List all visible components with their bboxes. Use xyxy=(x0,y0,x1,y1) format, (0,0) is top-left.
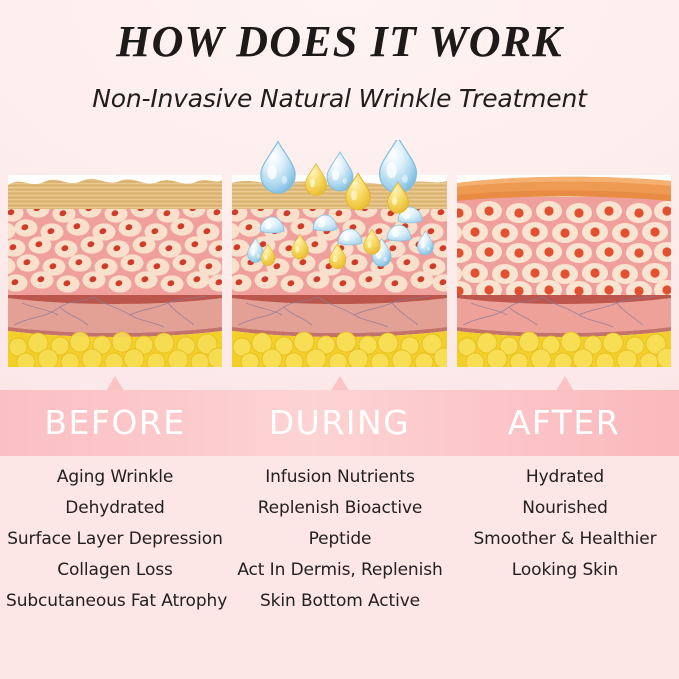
pointer-notch-before xyxy=(106,376,124,391)
benefit-columns: Aging Wrinkle Dehydrated Surface Layer D… xyxy=(0,462,679,679)
page-title: HOW DOES IT WORK xyxy=(0,16,679,67)
list-item: Smoother & Healthier xyxy=(456,524,674,555)
panel-row xyxy=(0,175,679,367)
benefit-column-before: Aging Wrinkle Dehydrated Surface Layer D… xyxy=(6,462,224,617)
skin-cross-section-after xyxy=(457,175,671,367)
skin-cross-section-before xyxy=(8,175,222,367)
skin-cross-section-during xyxy=(232,175,447,367)
list-item: Replenish Bioactive xyxy=(228,493,452,524)
stage-label-after: AFTER xyxy=(457,390,671,456)
benefit-column-after: Hydrated Nourished Smoother & Healthier … xyxy=(456,462,674,586)
list-item: Aging Wrinkle xyxy=(6,462,224,493)
during-illustration xyxy=(232,175,447,367)
stage-band: BEFORE DURING AFTER xyxy=(0,390,679,456)
list-item: Skin Bottom Active xyxy=(228,586,452,617)
list-item: Nourished xyxy=(456,493,674,524)
infographic-poster: HOW DOES IT WORK Non-Invasive Natural Wr… xyxy=(0,0,679,679)
after-illustration xyxy=(457,175,671,367)
list-item: Infusion Nutrients xyxy=(228,462,452,493)
pointer-notch-during xyxy=(331,376,349,391)
before-illustration xyxy=(8,175,222,367)
list-item: Hydrated xyxy=(456,462,674,493)
page-subtitle: Non-Invasive Natural Wrinkle Treatment xyxy=(0,84,679,113)
list-item: Subcutaneous Fat Atrophy xyxy=(6,586,224,617)
pointer-notch-after xyxy=(556,376,574,391)
list-item: Peptide xyxy=(228,524,452,555)
benefit-column-during: Infusion Nutrients Replenish Bioactive P… xyxy=(228,462,452,617)
list-item: Act In Dermis, Replenish xyxy=(228,555,452,586)
stage-label-during: DURING xyxy=(232,390,447,456)
list-item: Surface Layer Depression xyxy=(6,524,224,555)
list-item: Dehydrated xyxy=(6,493,224,524)
list-item: Collagen Loss xyxy=(6,555,224,586)
list-item: Looking Skin xyxy=(456,555,674,586)
stage-label-before: BEFORE xyxy=(8,390,222,456)
